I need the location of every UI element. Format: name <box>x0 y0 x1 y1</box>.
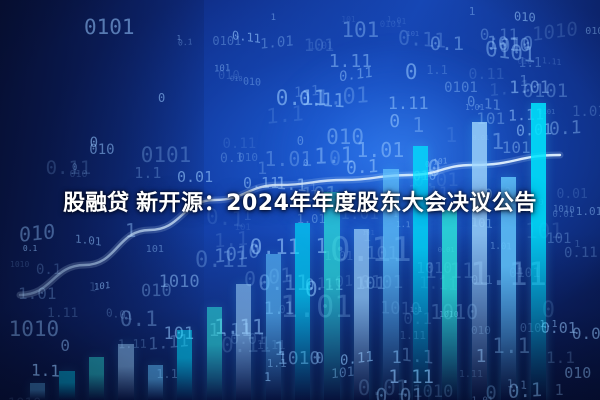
headline-source: 股融贷 <box>63 185 129 217</box>
headline-band: 股融贷 新开源：2024年年度股东大会决议公告 <box>0 178 600 224</box>
headline-title: 新开源：2024年年度股东大会决议公告 <box>136 185 537 217</box>
news-cover-image: 0.0110101.011.110101101010101010101000.1… <box>0 0 600 400</box>
